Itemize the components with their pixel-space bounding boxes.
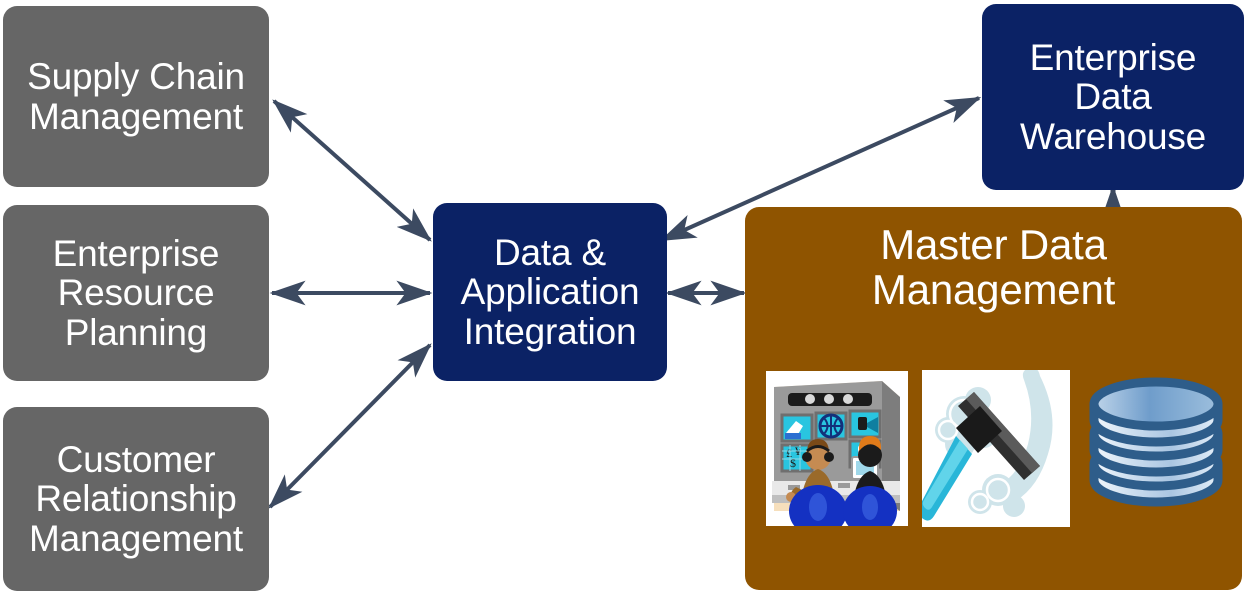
node-enterprise-data-warehouse[interactable]: EnterpriseDataWarehouse (982, 4, 1244, 190)
node-customer-relationship-management[interactable]: CustomerRelationshipManagement (3, 407, 269, 591)
connector-scm-dai (274, 101, 430, 240)
node-data-application-integration[interactable]: Data &ApplicationIntegration (433, 203, 667, 381)
node-label: Data &ApplicationIntegration (433, 233, 667, 351)
node-supply-chain-management[interactable]: Supply ChainManagement (3, 6, 269, 187)
node-label: CustomerRelationshipManagement (3, 440, 269, 558)
connector-crm-dai (270, 345, 430, 507)
diagram-canvas: Supply ChainManagement EnterpriseResourc… (0, 0, 1248, 597)
node-label: EnterpriseDataWarehouse (982, 38, 1244, 156)
node-label: EnterpriseResourcePlanning (3, 234, 269, 352)
node-label: Master DataManagement (745, 207, 1242, 312)
node-master-data-management[interactable]: Master DataManagement (745, 207, 1242, 590)
node-label: Supply ChainManagement (3, 57, 269, 135)
node-enterprise-resource-planning[interactable]: EnterpriseResourcePlanning (3, 205, 269, 381)
